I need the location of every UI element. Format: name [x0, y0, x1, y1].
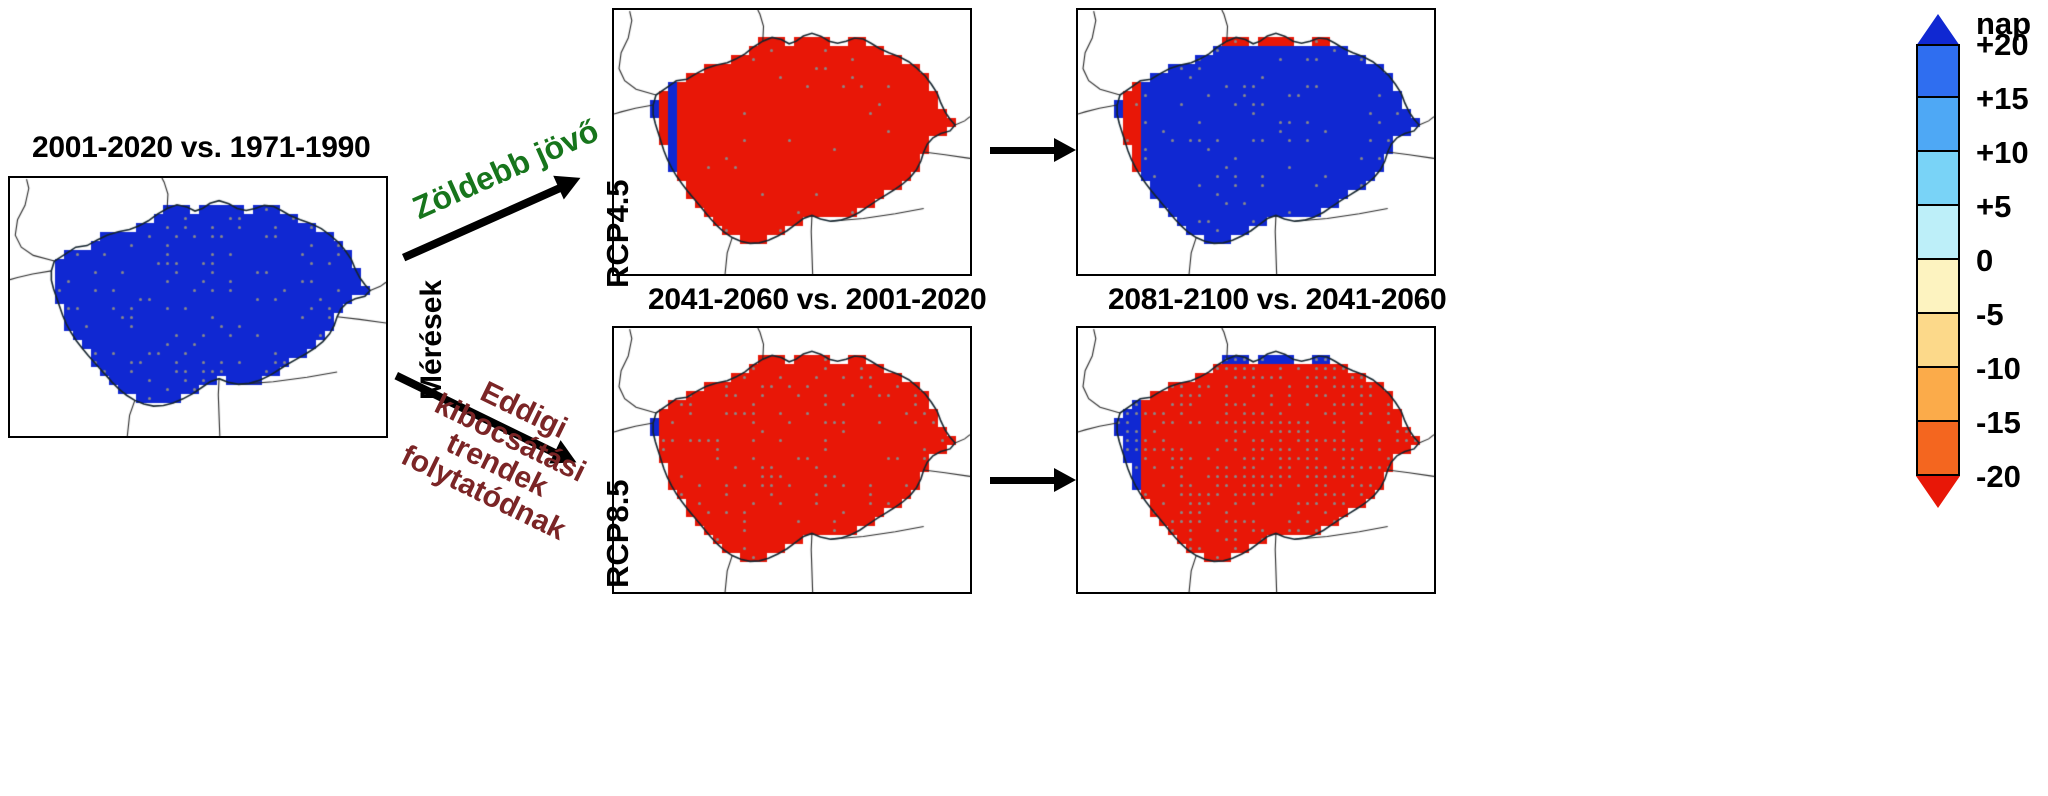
colorbar-band-6 — [1916, 368, 1960, 422]
map-panel-rcp45-late — [1076, 8, 1436, 276]
colorbar-band-1 — [1916, 98, 1960, 152]
colorbar-band-4 — [1916, 260, 1960, 314]
map-raster — [1078, 328, 1434, 592]
colorbar-tick-minus5: -5 — [1976, 297, 2004, 333]
row-label-rcp45: RCP4.5 — [600, 179, 636, 288]
map-panel-rcp85-mid — [612, 326, 972, 594]
row-label-rcp85: RCP8.5 — [600, 479, 636, 588]
map-panel-rcp85-late — [1076, 326, 1436, 594]
colorbar-band-5 — [1916, 314, 1960, 368]
map-raster — [1078, 10, 1434, 274]
map-panel-rcp45-mid — [612, 8, 972, 276]
colorbar-tick-plus5: +5 — [1976, 189, 2011, 225]
colorbar-tick-minus10: -10 — [1976, 351, 2021, 387]
panel-title-observed: 2001-2020 vs. 1971-1990 — [32, 131, 370, 165]
colorbar — [1916, 44, 1960, 476]
panel-title-right: 2081-2100 vs. 2041-2060 — [1108, 283, 1446, 317]
colorbar-band-2 — [1916, 152, 1960, 206]
colorbar-tick-minus15: -15 — [1976, 405, 2021, 441]
colorbar-cap-bottom — [1916, 476, 1960, 508]
colorbar-band-0 — [1916, 44, 1960, 98]
colorbar-cap-top — [1916, 14, 1960, 46]
panel-title-middle: 2041-2060 vs. 2001-2020 — [648, 283, 986, 317]
colorbar-tick-plus10: +10 — [1976, 135, 2029, 171]
colorbar-tick-0: 0 — [1976, 243, 1993, 279]
colorbar-tick-plus20: +20 — [1976, 27, 2029, 63]
map-raster — [10, 178, 386, 436]
colorbar-tick-minus20: -20 — [1976, 459, 2021, 495]
colorbar-band-3 — [1916, 206, 1960, 260]
figure-canvas: 2001-2020 vs. 1971-1990 2041-2060 vs. 20… — [0, 0, 2048, 796]
colorbar-tick-plus15: +15 — [1976, 81, 2029, 117]
map-panel-observed — [8, 176, 388, 438]
map-raster — [614, 328, 970, 592]
colorbar-band-7 — [1916, 422, 1960, 476]
map-raster — [614, 10, 970, 274]
